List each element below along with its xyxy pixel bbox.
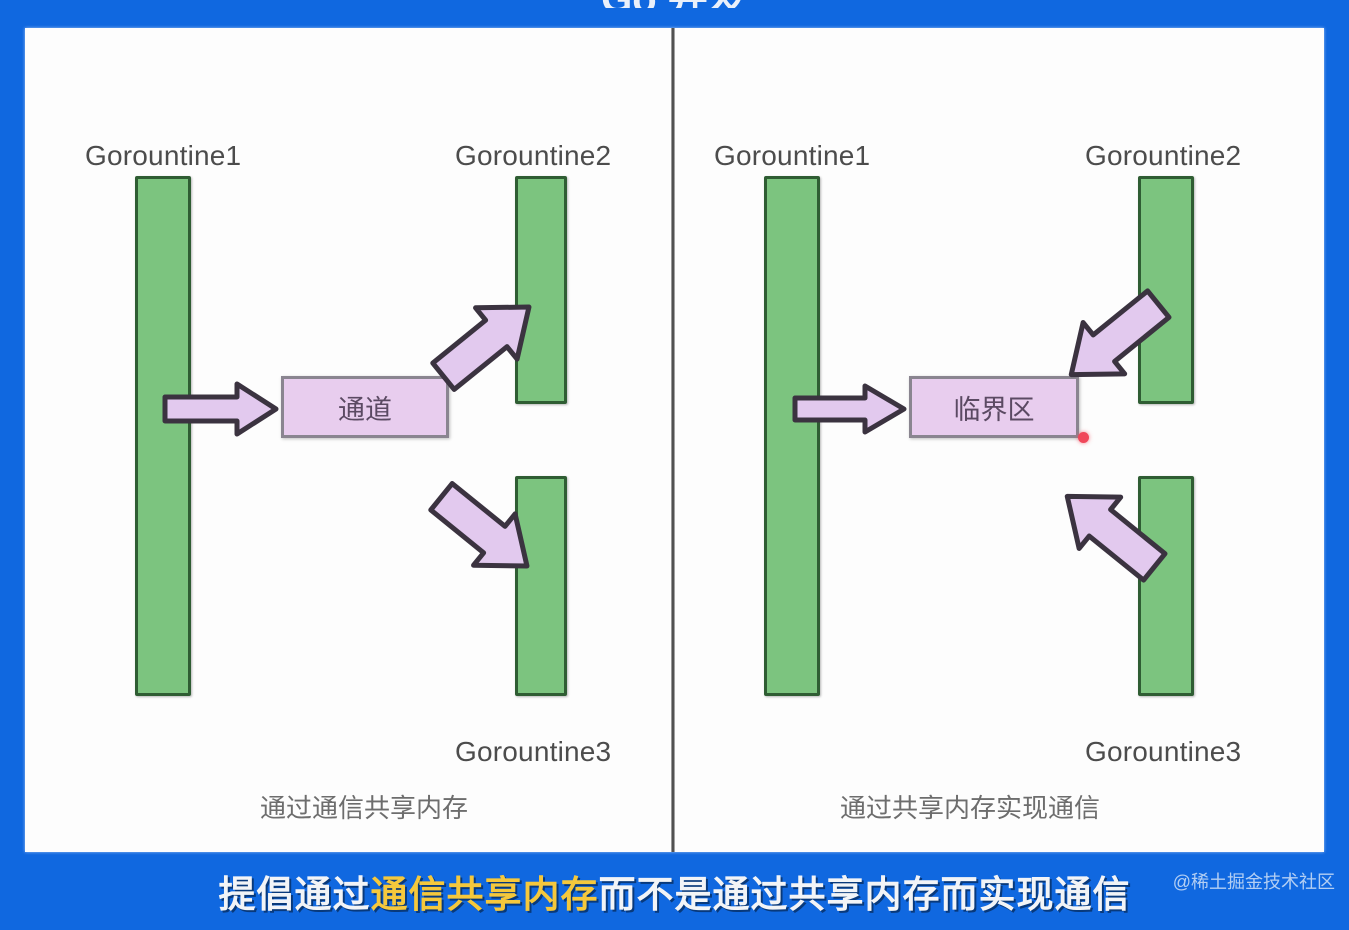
left-panel-label-gorountine2: Gorountine2 xyxy=(455,140,611,172)
right-diagram-panel: Gorountine1 Gorountine2 Gorountine3 临界区 … xyxy=(675,28,1324,852)
left-panel-label-gorountine3: Gorountine3 xyxy=(455,736,611,768)
subtitle-bar: 提倡通过通信共享内存而不是通过共享内存而实现通信 xyxy=(0,852,1349,930)
subtitle-highlight: 通信共享内存 xyxy=(371,874,599,915)
right-panel-critical-section-box-label: 临界区 xyxy=(954,388,1035,427)
cursor-dot xyxy=(1078,432,1089,443)
subtitle-part1: 提倡通过 xyxy=(219,874,371,915)
cropped-title-text: Go 并发 xyxy=(601,0,748,8)
right-panel-goroutine1-bar xyxy=(764,176,820,696)
arrow-g1-to-channel xyxy=(163,381,279,437)
right-panel-label-gorountine3: Gorountine3 xyxy=(1085,736,1241,768)
arrow-channel-to-g2 xyxy=(427,286,547,396)
right-panel-label-gorountine1: Gorountine1 xyxy=(714,140,870,172)
subtitle-text: 提倡通过通信共享内存而不是通过共享内存而实现通信 xyxy=(219,864,1131,918)
left-panel-channel-box-label: 通道 xyxy=(338,388,392,427)
arrow-channel-to-g3 xyxy=(425,476,545,588)
cropped-title-sliver: Go 并发 xyxy=(0,0,1349,8)
arrow-g3-to-critical xyxy=(1049,474,1171,588)
left-panel-label-gorountine1: Gorountine1 xyxy=(85,140,241,172)
subtitle-part2: 而不是通过共享内存而实现通信 xyxy=(599,874,1131,915)
left-panel-channel-box[interactable]: 通道 xyxy=(281,376,449,438)
watermark: @稀土掘金技术社区 xyxy=(1173,868,1335,894)
left-diagram-panel: Gorountine1 Gorountine2 Gorountine3 通道 通… xyxy=(25,28,671,852)
right-panel-caption: 通过共享内存实现通信 xyxy=(840,788,1100,825)
right-panel-label-gorountine2: Gorountine2 xyxy=(1085,140,1241,172)
arrow-g1-to-critical xyxy=(793,383,907,435)
arrow-g2-to-critical xyxy=(1053,284,1175,396)
left-panel-caption: 通过通信共享内存 xyxy=(260,788,468,825)
